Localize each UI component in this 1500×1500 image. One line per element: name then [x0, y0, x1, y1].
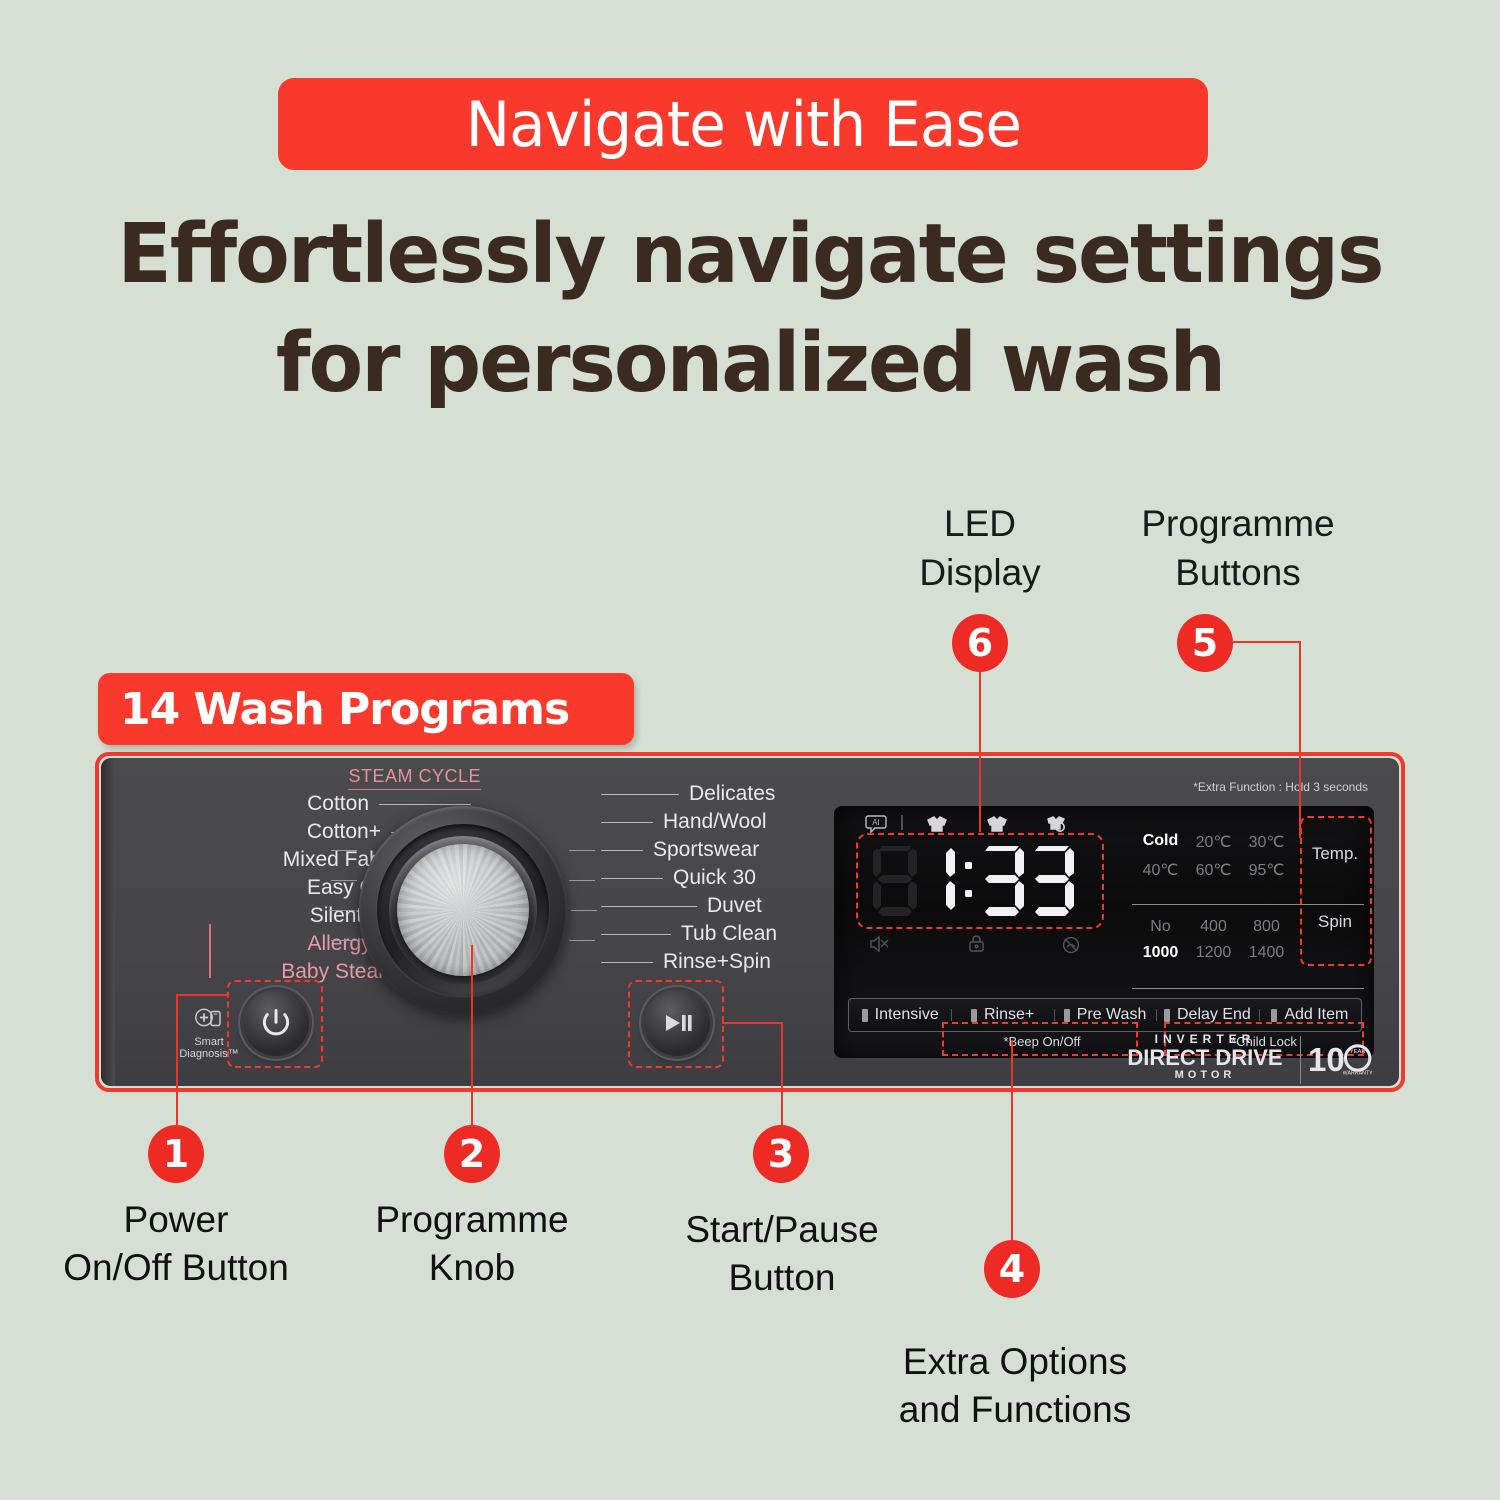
headline-line-2: for personalized wash — [23, 309, 1478, 418]
headline-line-1: Effortlessly navigate settings — [23, 200, 1478, 309]
callout-label-extra-options: Extra Options and Functions — [850, 1338, 1180, 1434]
top-banner: Navigate with Ease — [278, 78, 1208, 170]
leader-line-5-h — [1233, 641, 1301, 643]
leader-line-4 — [1011, 1040, 1013, 1240]
callout-label-led-display: LED Display — [860, 500, 1100, 598]
callout-1-line-2: On/Off Button — [28, 1244, 324, 1292]
callout-5-line-2: Buttons — [1110, 549, 1366, 598]
callout-1-line-1: Power — [28, 1196, 324, 1244]
page-title: Effortlessly navigate settings for perso… — [0, 200, 1500, 418]
callout-label-programme-knob: Programme Knob — [330, 1196, 614, 1292]
callout-badge-5: 5 — [1177, 614, 1233, 672]
callout-badge-3: 3 — [753, 1125, 809, 1183]
callout-6-line-1: LED — [860, 500, 1100, 549]
callout-6-line-2: Display — [860, 549, 1100, 598]
leader-line-1-h — [176, 994, 228, 996]
callout-badge-2: 2 — [444, 1125, 500, 1183]
leader-line-1-v — [176, 994, 178, 1125]
callout-label-power-button: Power On/Off Button — [28, 1196, 324, 1292]
infographic-root: Navigate with Ease Effortlessly navigate… — [0, 0, 1500, 1500]
top-banner-text: Navigate with Ease — [465, 88, 1021, 161]
callout-label-start-pause: Start/Pause Button — [640, 1206, 924, 1302]
callout-badge-4: 4 — [984, 1240, 1040, 1298]
callout-label-programme-buttons: Programme Buttons — [1110, 500, 1366, 598]
callout-4-line-2: and Functions — [850, 1386, 1180, 1434]
callout-3-line-1: Start/Pause — [640, 1206, 924, 1254]
callout-4-line-1: Extra Options — [850, 1338, 1180, 1386]
callout-3-line-2: Button — [640, 1254, 924, 1302]
callout-5-line-1: Programme — [1110, 500, 1366, 549]
wash-programs-banner: 14 Wash Programs — [98, 673, 634, 745]
callout-badge-6: 6 — [952, 614, 1008, 672]
callout-badge-1: 1 — [148, 1125, 204, 1183]
wash-programs-banner-text: 14 Wash Programs — [98, 684, 569, 735]
leader-line-6 — [979, 672, 981, 832]
leader-line-5-v — [1299, 641, 1301, 838]
callout-2-line-1: Programme — [330, 1196, 614, 1244]
start-pause-highlight — [628, 980, 724, 1068]
leader-line-3-h — [722, 1022, 781, 1024]
power-button-highlight — [227, 980, 323, 1068]
callout-2-line-2: Knob — [330, 1244, 614, 1292]
leader-line-2 — [471, 945, 473, 1125]
leader-line-3-v — [781, 1022, 783, 1125]
